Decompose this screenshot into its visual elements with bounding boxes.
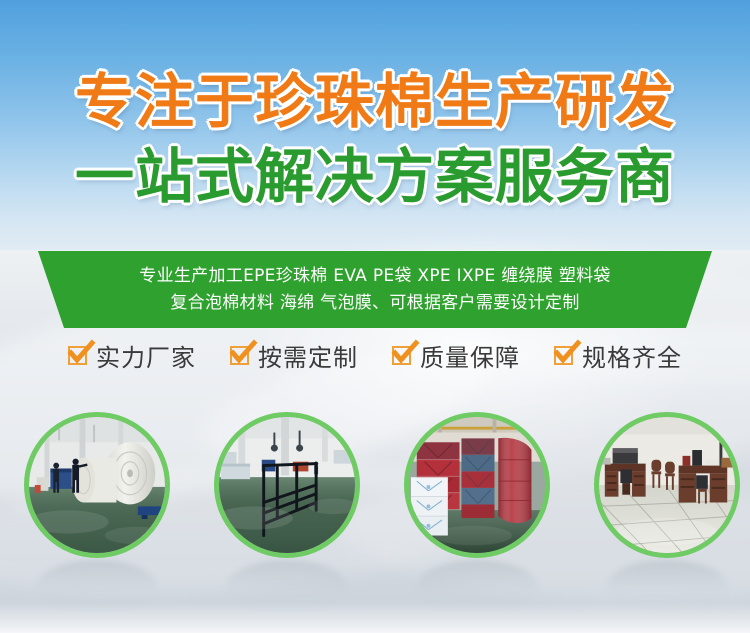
feature-item-specs: 规格齐全 [554, 338, 682, 373]
check-box-icon [392, 346, 411, 365]
feature-item-quality: 质量保障 [392, 338, 520, 373]
feature-label: 质量保障 [420, 338, 520, 373]
headline-line-1: 专注于珍珠棉生产研发 [0, 72, 750, 131]
green-info-band: 专业生产加工EPE珍珠棉 EVA PE袋 XPE IXPE 缠绕膜 塑料袋 复合… [0, 251, 750, 328]
photo-production-line[interactable] [24, 412, 170, 558]
photo-reflection [607, 560, 727, 612]
check-box-icon [554, 346, 573, 365]
feature-item-strength: 实力厂家 [68, 338, 196, 373]
photo-reflection [37, 560, 157, 612]
feature-label: 规格齐全 [582, 338, 682, 373]
feature-list: 实力厂家 按需定制 质量保障 规格齐全 [0, 338, 750, 373]
photo-workshop-rack[interactable] [214, 412, 360, 558]
band-line-1: 专业生产加工EPE珍珠棉 EVA PE袋 XPE IXPE 缠绕膜 塑料袋 [139, 263, 610, 289]
photo-reflection [417, 560, 537, 612]
headline-block: 专注于珍珠棉生产研发 一站式解决方案服务商 [0, 72, 750, 206]
band-line-2: 复合泡棉材料 海绵 气泡膜、可根据客户需要设计定制 [170, 290, 579, 316]
photo-gallery [0, 412, 750, 562]
promo-banner: 专注于珍珠棉生产研发 一站式解决方案服务商 专业生产加工EPE珍珠棉 EVA P… [0, 0, 750, 633]
photo-warehouse-stock[interactable] [404, 412, 550, 558]
feature-label: 按需定制 [258, 338, 358, 373]
photo-reflection [227, 560, 347, 612]
check-box-icon [230, 346, 249, 365]
photo-office[interactable] [594, 412, 740, 558]
feature-item-custom: 按需定制 [230, 338, 358, 373]
check-box-icon [68, 346, 87, 365]
headline-line-2: 一站式解决方案服务商 [0, 147, 750, 206]
feature-label: 实力厂家 [96, 338, 196, 373]
